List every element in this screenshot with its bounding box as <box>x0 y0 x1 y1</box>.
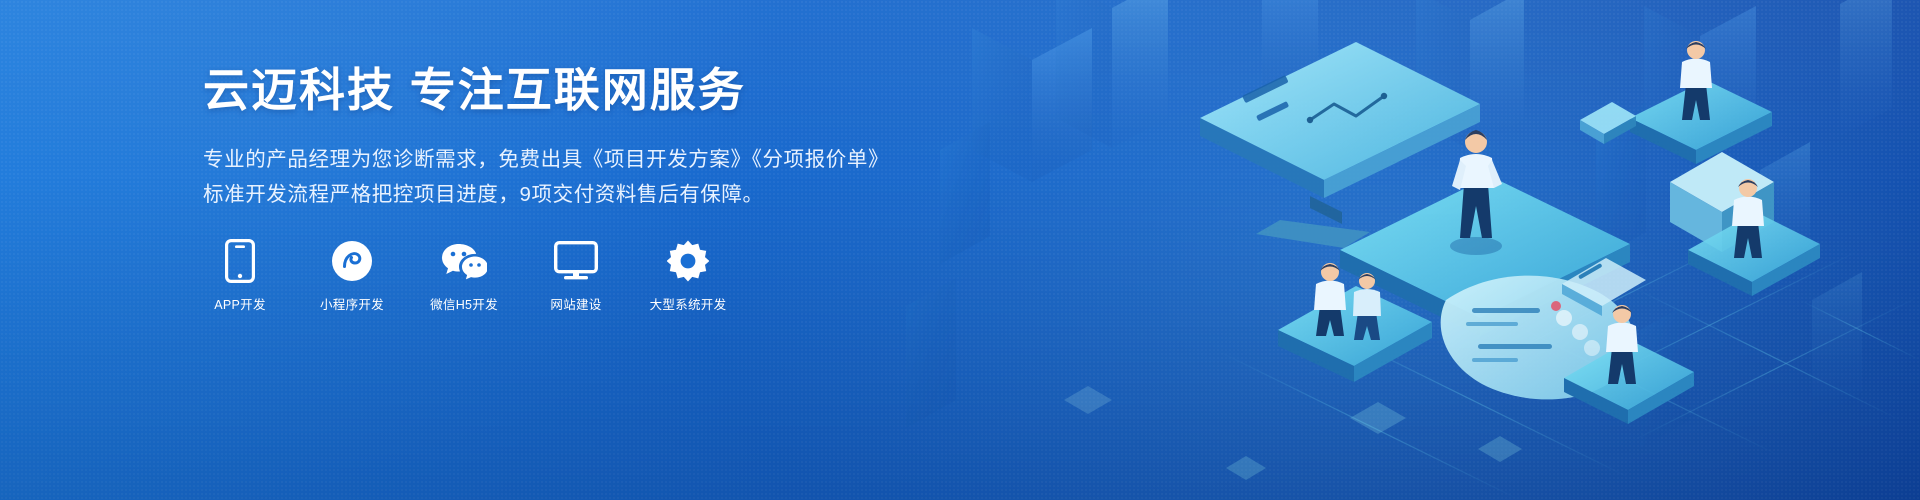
mobile-phone-icon <box>225 239 255 283</box>
page-title: 云迈科技 专注互联网服务 <box>203 62 923 120</box>
service-label-system: 大型系统开发 <box>650 294 727 313</box>
subtitle-line-2: 标准开发流程严格把控项目进度，9项交付资料售后有保障。 <box>203 177 923 213</box>
service-label-wechat: 微信H5开发 <box>430 294 498 313</box>
wechat-icon <box>441 239 487 283</box>
service-item-system[interactable]: 大型系统开发 <box>651 239 725 313</box>
service-item-miniprogram[interactable]: 小程序开发 <box>315 239 389 313</box>
banner-content: 云迈科技 专注互联网服务 专业的产品经理为您诊断需求，免费出具《项目开发方案》《… <box>203 62 923 313</box>
banner-subtitle: 专业的产品经理为您诊断需求，免费出具《项目开发方案》《分项报价单》 标准开发流程… <box>203 142 923 214</box>
hero-illustration <box>1160 0 1920 500</box>
service-item-app[interactable]: APP开发 <box>203 239 277 313</box>
subtitle-line-1: 专业的产品经理为您诊断需求，免费出具《项目开发方案》《分项报价单》 <box>203 142 923 178</box>
mini-program-icon <box>331 239 373 283</box>
service-item-website[interactable]: 网站建设 <box>539 239 613 313</box>
service-label-website: 网站建设 <box>550 294 601 313</box>
service-label-app: APP开发 <box>214 294 266 313</box>
service-item-wechat[interactable]: 微信H5开发 <box>427 239 501 313</box>
service-icon-row: APP开发 小程序开发 <box>203 239 923 313</box>
gear-icon <box>667 239 709 283</box>
hero-banner: 云迈科技 专注互联网服务 专业的产品经理为您诊断需求，免费出具《项目开发方案》《… <box>0 0 1920 500</box>
monitor-icon <box>554 239 598 283</box>
service-label-miniprogram: 小程序开发 <box>320 294 384 313</box>
